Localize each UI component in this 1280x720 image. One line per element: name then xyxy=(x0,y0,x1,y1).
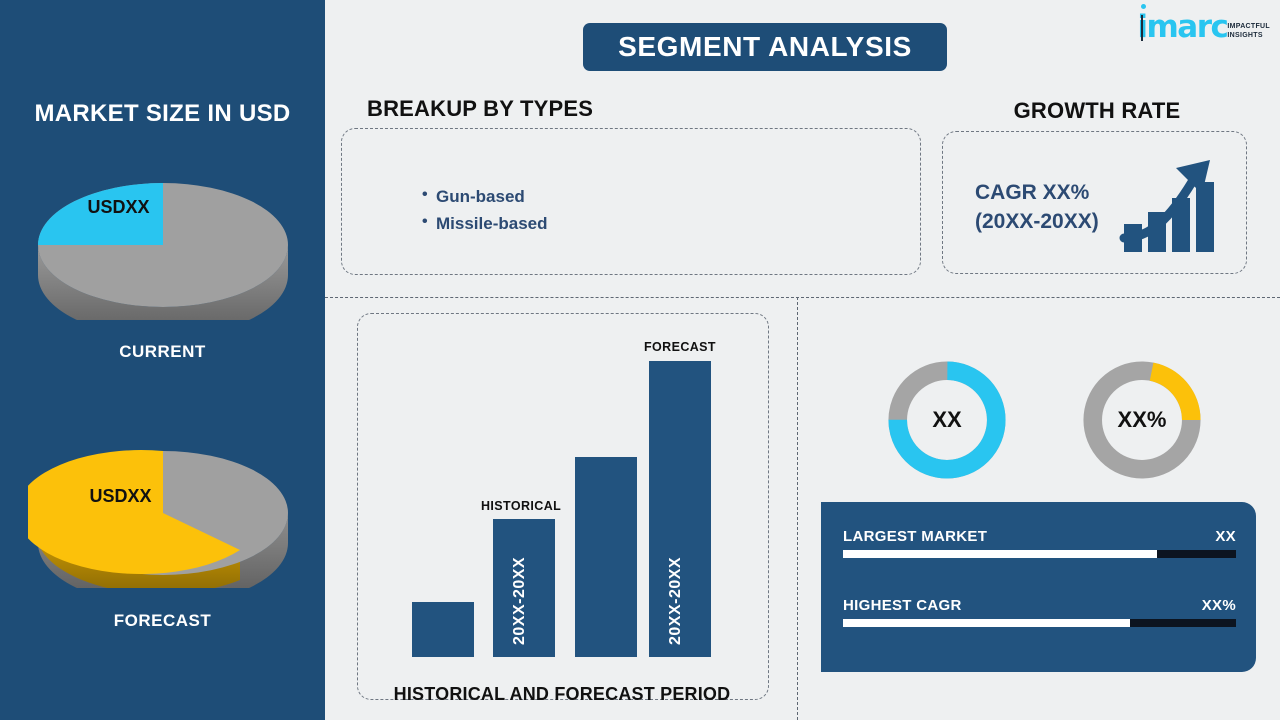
breakup-title: BREAKUP BY TYPES xyxy=(367,96,593,122)
pie-chart-current: USDXX CURRENT xyxy=(0,170,325,362)
table-row: 20XX-20XX xyxy=(493,519,555,657)
breakup-box: Gun-based Missile-based xyxy=(341,128,921,275)
stat-highest-cagr: HIGHEST CAGR XX% xyxy=(843,597,1236,627)
growth-cagr-text: CAGR XX% (20XX-20XX) xyxy=(975,178,1099,236)
pie-chart-forecast: USDXX FORECAST xyxy=(0,438,325,631)
stat-row: LARGEST MARKET XX xyxy=(843,528,1236,545)
pie-forecast-svg xyxy=(28,438,298,588)
logo-tagline-line1: IMPACTFUL xyxy=(1227,22,1270,31)
sidebar-title: MARKET SIZE IN USD xyxy=(0,100,325,128)
bar-chart-plot: HISTORICAL 20XX-20XX FORECAST 20XX-20XX xyxy=(357,313,767,657)
table-row: 20XX-20XX xyxy=(649,361,711,657)
progress-track xyxy=(843,550,1236,558)
stat-largest-market: LARGEST MARKET XX xyxy=(843,528,1236,558)
stats-panel: LARGEST MARKET XX HIGHEST CAGR XX% xyxy=(821,502,1256,672)
growth-arrow-chart-icon xyxy=(1118,152,1228,262)
bar-inner-label-historical: 20XX-20XX xyxy=(511,557,529,645)
pie-forecast-graphic: USDXX xyxy=(28,438,298,588)
stat-value: XX xyxy=(1215,528,1236,545)
stat-row: HIGHEST CAGR XX% xyxy=(843,597,1236,614)
imarc-logo: imarc IMPACTFUL INSIGHTS xyxy=(1137,12,1270,43)
logo-wordmark-wrap: imarc xyxy=(1137,12,1227,43)
pie-current-label: CURRENT xyxy=(0,342,325,362)
progress-fill xyxy=(843,550,1157,558)
pie-current-svg xyxy=(28,170,298,320)
main-panel: SEGMENT ANALYSIS imarc IMPACTFUL INSIGHT… xyxy=(325,0,1280,720)
logo-wordmark: imarc xyxy=(1137,12,1227,43)
stat-label: LARGEST MARKET xyxy=(843,528,987,545)
bar-label-historical: HISTORICAL xyxy=(481,499,561,513)
page-title: SEGMENT ANALYSIS xyxy=(618,31,912,63)
pie-forecast-label: FORECAST xyxy=(0,611,325,631)
logo-tagline-line2: INSIGHTS xyxy=(1227,31,1270,40)
bar-chart: HISTORICAL 20XX-20XX FORECAST 20XX-20XX … xyxy=(357,313,767,698)
infographic-root: MARKET SIZE IN USD USDXX xyxy=(0,0,1280,720)
donut-chart-highest-cagr: XX% xyxy=(1077,355,1207,485)
vertical-divider xyxy=(797,297,798,720)
bar-inner-label-forecast: 20XX-20XX xyxy=(667,557,685,645)
growth-cagr-line2: (20XX-20XX) xyxy=(975,207,1099,236)
list-item: Gun-based xyxy=(422,187,548,207)
stat-label: HIGHEST CAGR xyxy=(843,597,962,614)
stat-value: XX% xyxy=(1202,597,1236,614)
progress-track xyxy=(843,619,1236,627)
bar-chart-caption: HISTORICAL AND FORECAST PERIOD xyxy=(357,684,767,705)
donut-chart-largest-market: XX xyxy=(882,355,1012,485)
growth-cagr-line1: CAGR XX% xyxy=(975,178,1099,207)
list-item: Missile-based xyxy=(422,214,548,234)
growth-title: GROWTH RATE xyxy=(942,98,1252,124)
logo-tagline: IMPACTFUL INSIGHTS xyxy=(1227,22,1270,40)
sidebar: MARKET SIZE IN USD USDXX xyxy=(0,0,325,720)
pie-current-graphic: USDXX xyxy=(28,170,298,320)
table-row xyxy=(412,602,474,657)
donut-right-value: XX% xyxy=(1077,355,1207,485)
growth-box: CAGR XX% (20XX-20XX) xyxy=(942,131,1247,274)
breakup-list: Gun-based Missile-based xyxy=(382,187,548,241)
bar-label-forecast: FORECAST xyxy=(644,340,716,354)
table-row xyxy=(575,457,637,657)
page-title-banner: SEGMENT ANALYSIS xyxy=(583,23,947,71)
logo-divider-icon xyxy=(1141,15,1143,41)
donut-left-value: XX xyxy=(882,355,1012,485)
horizontal-divider xyxy=(325,297,1280,298)
progress-fill xyxy=(843,619,1130,627)
